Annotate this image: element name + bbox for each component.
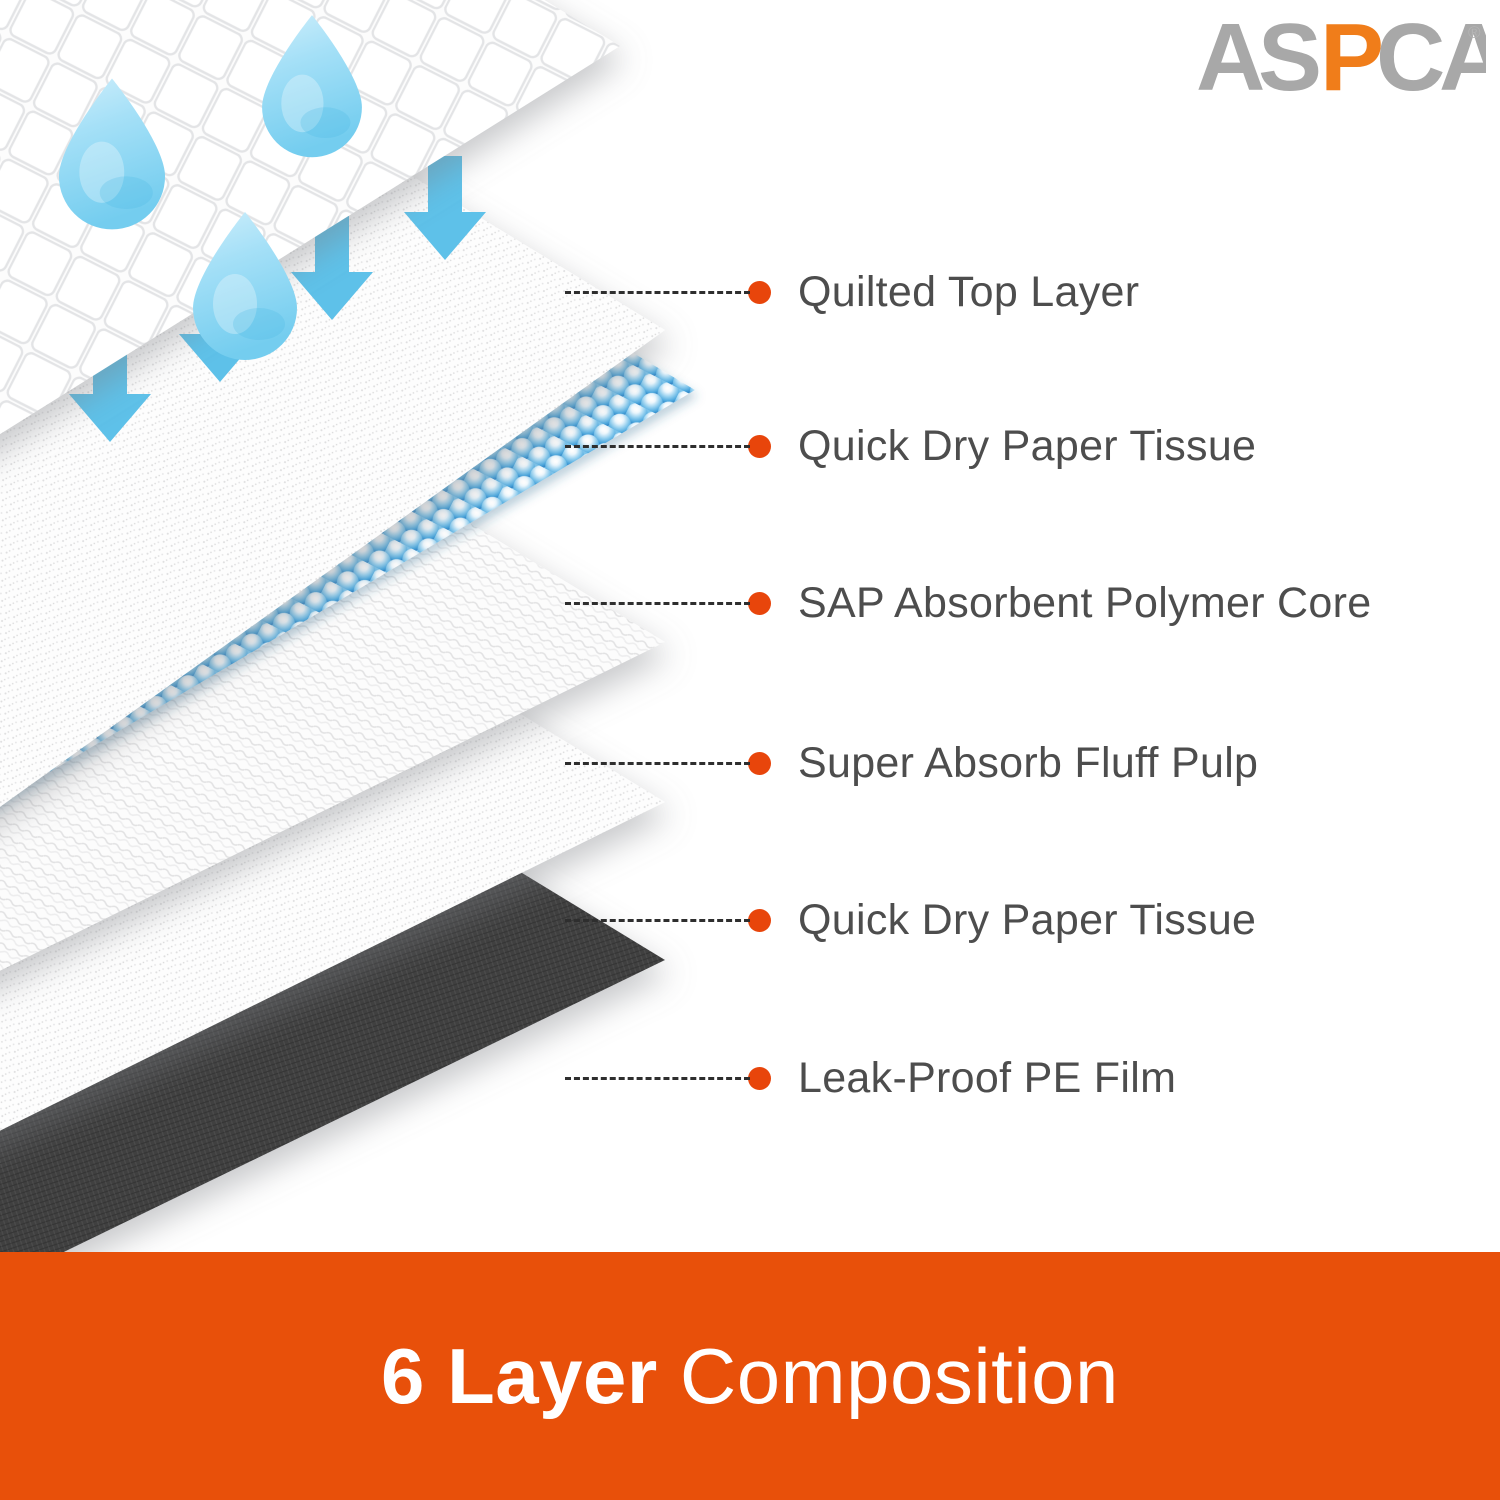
bullet-dot-icon — [748, 435, 771, 458]
registered-trademark-icon: ® — [1468, 23, 1481, 42]
callout-super-absorb-fluff-pulp: Super Absorb Fluff Pulp — [565, 733, 1258, 793]
leader-line — [565, 762, 750, 765]
callout-sap-absorbent-polymer-core: SAP Absorbent Polymer Core — [565, 573, 1371, 633]
callout-leak-proof-pe-film: Leak-Proof PE Film — [565, 1048, 1176, 1108]
bullet-dot-icon — [748, 909, 771, 932]
logo-letter-a1: A — [1196, 8, 1263, 111]
callout-label: Quick Dry Paper Tissue — [798, 425, 1256, 468]
bullet-dot-icon — [748, 1067, 771, 1090]
banner-headline-regular: Composition — [680, 1332, 1119, 1420]
callout-label: Quick Dry Paper Tissue — [798, 899, 1256, 942]
leader-line — [565, 291, 750, 294]
bullet-dot-icon — [748, 592, 771, 615]
logo-letter-s: S — [1258, 8, 1319, 111]
callout-quick-dry-paper-tissue-upper: Quick Dry Paper Tissue — [565, 416, 1256, 476]
callout-label: Leak-Proof PE Film — [798, 1057, 1176, 1100]
callout-label: Super Absorb Fluff Pulp — [798, 742, 1258, 785]
aspca-logo: A S P C A ® — [1196, 8, 1486, 116]
banner-headline: 6 Layer Composition — [381, 1337, 1119, 1415]
bullet-dot-icon — [748, 281, 771, 304]
leader-line — [565, 445, 750, 448]
logo-letter-p: P — [1320, 8, 1381, 111]
footer-banner: 6 Layer Composition — [0, 1252, 1500, 1500]
logo-letter-c: C — [1376, 8, 1443, 111]
leader-line — [565, 602, 750, 605]
bullet-dot-icon — [748, 752, 771, 775]
leader-line — [565, 1077, 750, 1080]
callout-label: Quilted Top Layer — [798, 271, 1139, 314]
callout-quilted-top-layer: Quilted Top Layer — [565, 262, 1139, 322]
infographic-page: A S P C A ® — [0, 0, 1500, 1500]
layer-stack-illustration — [0, 0, 820, 1320]
leader-line — [565, 919, 750, 922]
banner-headline-bold: 6 Layer — [381, 1332, 658, 1420]
callout-label: SAP Absorbent Polymer Core — [798, 582, 1371, 625]
callout-quick-dry-paper-tissue-lower: Quick Dry Paper Tissue — [565, 890, 1256, 950]
